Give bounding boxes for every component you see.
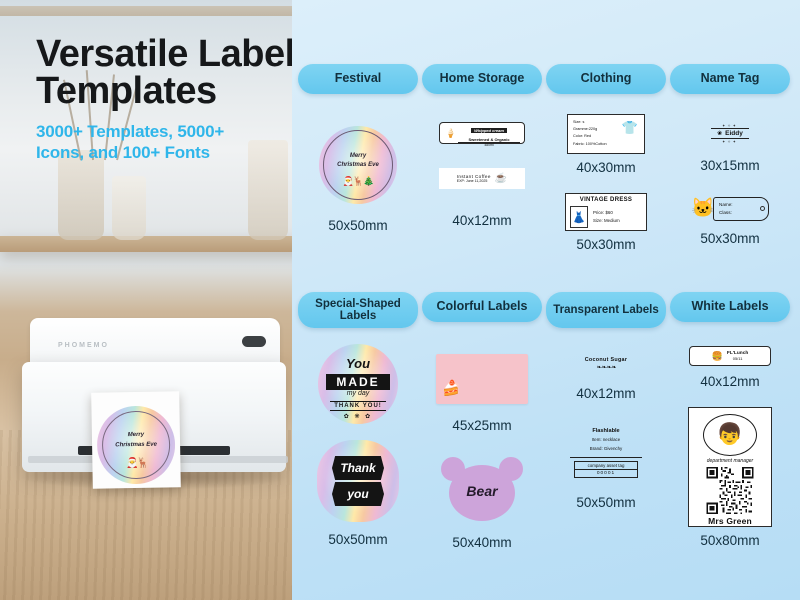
flash-row: Item: necklace — [592, 436, 620, 443]
dress-title: VINTAGE DRESS — [570, 197, 642, 203]
vintage-dress-label: VINTAGE DRESS 👗 Price: $60 Size: Medium — [565, 193, 647, 231]
holographic-circle-sticker: Merry Christmas Eve 🎅🦌🎄 — [319, 126, 397, 204]
tshirt-icon: 👕 — [621, 119, 639, 137]
cat-tag-row: Class: — [719, 209, 763, 217]
template-card-whipped-cream-storage-label[interactable]: 🍦 Whipped cream Sweetened & Organic 480m… — [422, 104, 542, 144]
qr-code-icon — [703, 467, 757, 514]
category-pill-home-storage[interactable]: Home Storage — [422, 64, 542, 94]
template-card-cat-school-name-tag[interactable]: 🐱 Name: Class: 50x30mm — [670, 183, 790, 246]
spec-row: Gramme:220g — [573, 126, 618, 133]
category-pill-white[interactable]: White Labels — [670, 292, 790, 322]
burger-icon: 🍔 — [712, 351, 723, 362]
name-tag-title: Eiddy — [725, 130, 743, 137]
template-card-manager-qr-badge[interactable]: 👦 department manager — [670, 399, 790, 548]
thankyou-line2: you — [332, 482, 384, 506]
whipped-cream-line3: 480ml — [458, 143, 520, 147]
dress-row: Price: $60 — [593, 209, 620, 217]
printed-label-line1: Merry — [128, 432, 144, 438]
bear-title: Bear — [439, 483, 525, 499]
template-card-pink-cake-label[interactable]: 🍰 45x25mm — [422, 332, 542, 433]
festival-label-line2: Christmas Eve — [337, 162, 379, 168]
thankyou-line1: Thank — [332, 456, 384, 480]
template-card-company-asset-tag-label[interactable]: Flashlable Item: necklace Brand: Givench… — [546, 411, 666, 510]
made-line2: MADE — [326, 374, 390, 390]
template-card-instant-coffee-storage-label[interactable]: Instant Coffee EXP: June 11,2025 ☕ 40x12… — [422, 154, 542, 228]
whipped-cream-line1: Whipped cream — [471, 128, 507, 133]
coconut-title: Coconut Sugar — [585, 357, 628, 363]
scalloped-holographic-sticker: Thank you — [317, 440, 399, 522]
ornament-dots: ✿ ❋ ✿ — [318, 413, 398, 420]
made-line3: my day — [318, 390, 398, 397]
dimension-label: 50x80mm — [700, 533, 759, 548]
decor-vase — [112, 176, 146, 240]
flash-row: Brand: Givenchy — [590, 445, 622, 452]
cat-tag-row: Name: — [719, 201, 763, 209]
whipped-cream-label: 🍦 Whipped cream Sweetened & Organic 480m… — [439, 122, 525, 144]
coconut-sugar-label: Coconut Sugar ❧·❧·❧·❧ — [566, 352, 646, 376]
printed-label-output: Merry Christmas Eve 🎅🦌 — [91, 391, 181, 489]
dimension-label: 40x12mm — [576, 386, 635, 401]
portrait-in-wreath: 👦 — [703, 414, 757, 456]
lunch-white-label: 🍔 FL'Lunch 05/11 — [689, 346, 771, 366]
asset-box-title: company asset tag — [575, 462, 637, 470]
dimension-label: 50x50mm — [328, 532, 387, 547]
flourish-divider-icon — [570, 457, 642, 458]
category-column-special-shaped: Special-Shaped Labels You MADE my day TH… — [298, 292, 418, 547]
instant-coffee-label: Instant Coffee EXP: June 11,2025 ☕ — [439, 168, 525, 189]
template-card-garment-spec-label[interactable]: Size: s Gramme:220g Color: Red Fabric: 1… — [546, 104, 666, 175]
category-pill-colorful[interactable]: Colorful Labels — [422, 292, 542, 322]
spec-row: Fabric: 100%Cotton — [573, 141, 618, 148]
template-card-merry-christmas-eve-sticker[interactable]: Merry Christmas Eve 🎅🦌🎄 50x50mm — [298, 104, 418, 233]
page-title-line2: Templates — [36, 70, 217, 112]
category-pill-name-tag[interactable]: Name Tag — [670, 64, 790, 94]
dimension-label: 40x12mm — [452, 213, 511, 228]
spec-row: Size: s — [573, 119, 618, 126]
dimension-label: 30x15mm — [700, 158, 759, 173]
template-card-vintage-dress-label[interactable]: VINTAGE DRESS 👗 Price: $60 Size: Medium … — [546, 185, 666, 252]
category-column-transparent: Transparent Labels Coconut Sugar ❧·❧·❧·❧… — [546, 292, 666, 510]
dimension-label: 40x12mm — [700, 374, 759, 389]
page-subtitle-line1: 3000+ Templates, 5000+ — [36, 122, 224, 141]
pink-cake-label: 🍰 — [436, 354, 528, 404]
template-card-coconut-sugar-label[interactable]: Coconut Sugar ❧·❧·❧·❧ 40x12mm — [546, 338, 666, 401]
cream-swirl-icon: 🍦 — [444, 126, 458, 140]
category-pill-special-shaped[interactable]: Special-Shaped Labels — [298, 292, 418, 328]
leaf-flourish-icon: ❧·❧·❧·❧ — [596, 364, 615, 371]
cat-name-tag: 🐱 Name: Class: — [689, 193, 771, 225]
category-column-white: White Labels 🍔 FL'Lunch 05/11 40x12mm — [670, 292, 790, 548]
made-line4: THANK YOU! — [330, 401, 386, 411]
category-column-name-tag: Name Tag ✦✧✦ ❀ Eiddy ✦✧✦ 30x15mm — [670, 64, 790, 246]
cake-slice-icon: 🍰 — [442, 379, 461, 397]
page-title: Versatile Label Templates — [36, 36, 336, 110]
category-column-home-storage: Home Storage 🍦 Whipped cream Sweetened &… — [422, 64, 542, 228]
template-card-thank-you-scallop-sticker[interactable]: Thank you 50x50mm — [298, 434, 418, 547]
template-card-eiddy-name-tag[interactable]: ✦✧✦ ❀ Eiddy ✦✧✦ 30x15mm — [670, 104, 790, 173]
dress-icon: 👗 — [570, 206, 588, 228]
printer-power-button[interactable] — [242, 336, 266, 347]
tag-punch-hole — [760, 206, 765, 211]
dimension-label: 50x50mm — [576, 495, 635, 510]
festival-label-line1: Merry — [350, 153, 366, 159]
category-pill-festival[interactable]: Festival — [298, 64, 418, 94]
made-line1: You — [318, 356, 398, 371]
template-card-you-made-my-day-sticker[interactable]: You MADE my day THANK YOU! ✿ ❋ ✿ — [298, 338, 418, 424]
headline-block: Versatile Label Templates 3000+ Template… — [36, 36, 336, 164]
dress-row: Size: Medium — [593, 217, 620, 225]
template-card-lunch-white-label[interactable]: 🍔 FL'Lunch 05/11 40x12mm — [670, 332, 790, 389]
badge-name: Mrs Green — [708, 516, 752, 526]
asset-box-value: 00001 — [575, 470, 637, 477]
category-pill-transparent[interactable]: Transparent Labels — [546, 292, 666, 328]
poster-canvas: PHOMEMO Merry Christmas Eve 🎅🦌 Versatile… — [0, 0, 800, 600]
you-made-my-day-sticker: You MADE my day THANK YOU! ✿ ❋ ✿ — [318, 344, 398, 424]
spec-row: Color: Red — [573, 133, 618, 140]
dimension-label: 50x30mm — [700, 231, 759, 246]
dimension-label: 45x25mm — [452, 418, 511, 433]
santa-sleigh-icon: 🎅🦌🎄 — [319, 176, 397, 187]
cat-icon: 🐱 — [691, 196, 713, 222]
page-subtitle: 3000+ Templates, 5000+ Icons, and 100+ F… — [36, 122, 336, 163]
dimension-label: 50x30mm — [576, 237, 635, 252]
flower-emblem-icon: ❀ — [717, 130, 722, 137]
manager-qr-badge: 👦 department manager — [688, 407, 772, 527]
dimension-label: 40x30mm — [576, 160, 635, 175]
tag-ornament-bottom: ✦✧✦ — [722, 139, 738, 144]
template-card-bear-die-cut-label[interactable]: Bear 50x40mm — [422, 443, 542, 550]
template-grid: Festival Merry Christmas Eve 🎅🦌🎄 50x50mm — [296, 64, 796, 564]
category-column-colorful: Colorful Labels 🍰 45x25mm Bear — [422, 292, 542, 550]
dimension-label: 50x50mm — [328, 218, 387, 233]
page-title-line1: Versatile Label — [36, 33, 295, 75]
printer-brand-logo: PHOMEMO — [58, 342, 109, 349]
printed-label-line2: Christmas Eve — [115, 441, 157, 448]
lunch-line2: 05/11 — [727, 356, 748, 361]
coffee-line2: EXP: June 11,2025 — [457, 179, 491, 183]
badge-role: department manager — [707, 458, 753, 464]
coffee-cup-icon: ☕ — [495, 173, 507, 184]
company-asset-tag-label: Flashlable Item: necklace Brand: Givench… — [562, 423, 650, 489]
category-column-clothing: Clothing Size: s Gramme:220g Color: Red … — [546, 64, 666, 252]
flash-title: Flashlable — [592, 428, 619, 434]
bear-head-shape: Bear — [439, 457, 525, 525]
category-column-festival: Festival Merry Christmas Eve 🎅🦌🎄 50x50mm — [298, 64, 418, 233]
category-pill-clothing[interactable]: Clothing — [546, 64, 666, 94]
dimension-label: 50x40mm — [452, 535, 511, 550]
page-subtitle-line2: Icons, and 100+ Fonts — [36, 143, 210, 162]
garment-spec-label: Size: s Gramme:220g Color: Red Fabric: 1… — [567, 114, 645, 154]
eiddy-name-tag: ✦✧✦ ❀ Eiddy ✦✧✦ — [692, 120, 768, 146]
santa-sleigh-icon: 🎅🦌 — [97, 457, 175, 469]
